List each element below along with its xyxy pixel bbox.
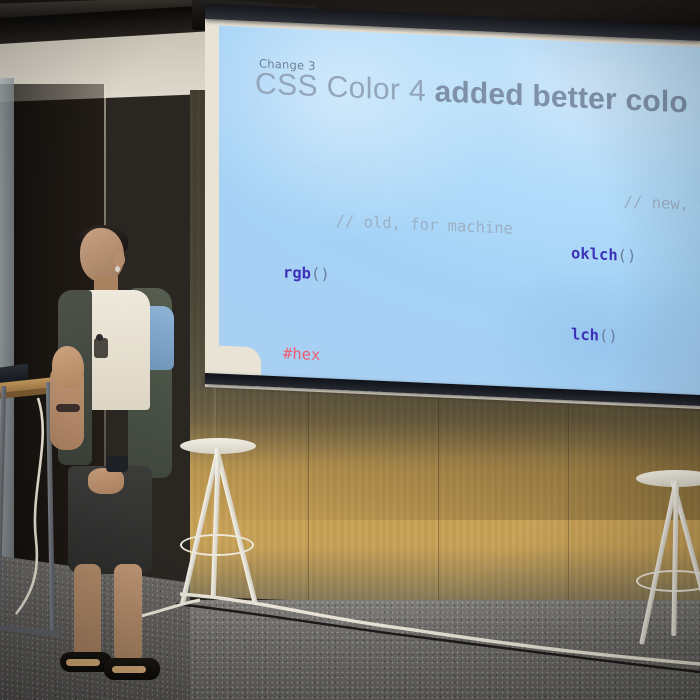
presenter: [42, 228, 192, 678]
earring: [115, 266, 120, 272]
white-cable: [180, 594, 700, 664]
code-line-lch: lch(): [549, 320, 700, 356]
black-cable: [176, 604, 700, 672]
right-leg: [114, 564, 142, 662]
left-hand: [52, 346, 84, 388]
code-comment-old: // old, for machine: [336, 212, 513, 238]
slide-content: Change 3 CSS Color 4 added better colo /…: [219, 26, 700, 395]
code-fn-rgb: rgb: [283, 263, 311, 282]
code-block-old: // old, for machine rgb() #hex: [261, 177, 513, 395]
wristband: [56, 404, 80, 412]
podium-cable: [16, 398, 43, 614]
code-fn-oklch: oklch: [571, 244, 618, 264]
code-fn-lch: lch: [571, 325, 599, 344]
lapel-microphone: [96, 334, 103, 341]
code-parens: (): [618, 246, 637, 265]
code-comment-new: // new, for h: [624, 193, 700, 216]
wristwatch: [106, 456, 128, 472]
code-parens: (): [311, 265, 330, 284]
right-sandal-footbed: [112, 666, 146, 673]
slide-corner-mask: [219, 346, 261, 376]
code-line-oklch: oklch(): [549, 239, 700, 275]
stool-seat: [636, 470, 700, 487]
projection-screen: Change 3 CSS Color 4 added better colo /…: [205, 4, 700, 426]
code-line-rgb: rgb(): [261, 258, 513, 296]
left-sandal-footbed: [66, 659, 100, 666]
code-parens: (): [599, 327, 618, 346]
code-block-new: // new, for h oklch() lch() hwb(): [549, 158, 700, 395]
presentation-photo: Change 3 CSS Color 4 added better colo /…: [0, 0, 700, 700]
ear: [114, 252, 125, 267]
code-line-hex: #hex: [261, 339, 513, 377]
code-token-hex: #hex: [283, 344, 320, 364]
tshirt-print: [94, 338, 108, 358]
left-leg: [74, 564, 101, 662]
